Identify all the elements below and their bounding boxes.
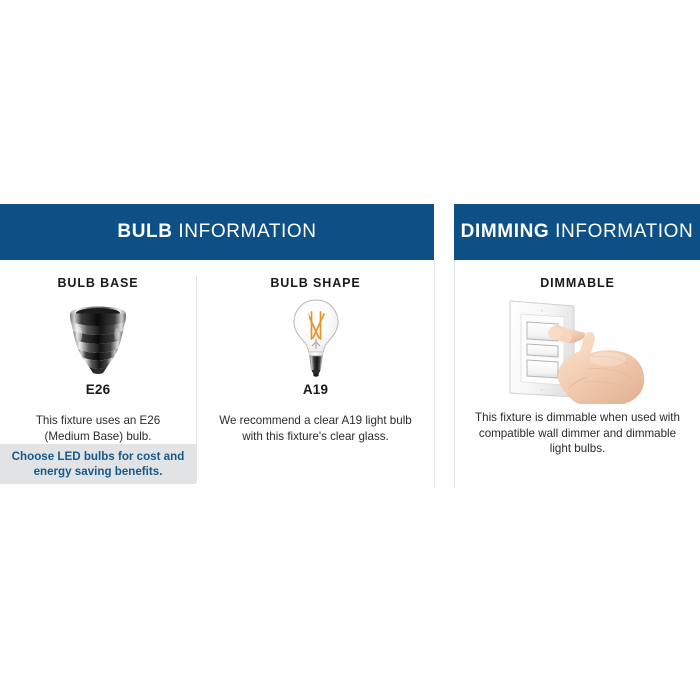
bulb-base-description: This fixture uses an E26 (Medium Base) b…: [0, 413, 196, 444]
wall-dimmer-switch-icon: [488, 297, 668, 405]
bulb-shape-description: We recommend a clear A19 light bulb with…: [197, 413, 434, 444]
bulb-base-value: E26: [0, 382, 196, 397]
bulb-base-title: BULB BASE: [0, 276, 196, 290]
led-callout-text: Choose LED bulbs for cost and energy sav…: [0, 449, 196, 479]
column-bulb-base: BULB BASE: [0, 260, 196, 444]
bulb-base-image: [0, 298, 196, 380]
column-bulb-shape: BULB SHAPE: [197, 260, 434, 444]
dimming-information-header-rest: INFORMATION: [549, 221, 693, 242]
bulb-information-header-strong: BULB: [117, 221, 172, 242]
bulb-shape-title: BULB SHAPE: [197, 276, 434, 290]
bulb-information-header-label: BULB INFORMATION: [117, 221, 316, 243]
bulb-shape-value: A19: [197, 382, 434, 397]
column-dimmable: DIMMABLE: [455, 260, 700, 457]
product-info-panel: BULB INFORMATION DIMMING INFORMATION BUL…: [0, 0, 700, 700]
bulb-information-header: BULB INFORMATION: [0, 204, 434, 260]
dimmable-description: This fixture is dimmable when used with …: [455, 410, 700, 457]
bulb-shape-image: [197, 298, 434, 380]
dimmable-title: DIMMABLE: [455, 276, 700, 290]
section-divider-left: [434, 260, 435, 488]
bulb-information-header-rest: INFORMATION: [173, 221, 317, 242]
dimming-information-header-strong: DIMMING: [461, 221, 550, 242]
dimmable-image: [455, 296, 700, 406]
a19-bulb-icon: [286, 297, 346, 381]
e26-screw-base-icon: [59, 300, 137, 378]
dimming-information-header: DIMMING INFORMATION: [454, 204, 700, 260]
led-callout: Choose LED bulbs for cost and energy sav…: [0, 444, 196, 484]
dimming-information-header-label: DIMMING INFORMATION: [461, 221, 694, 243]
